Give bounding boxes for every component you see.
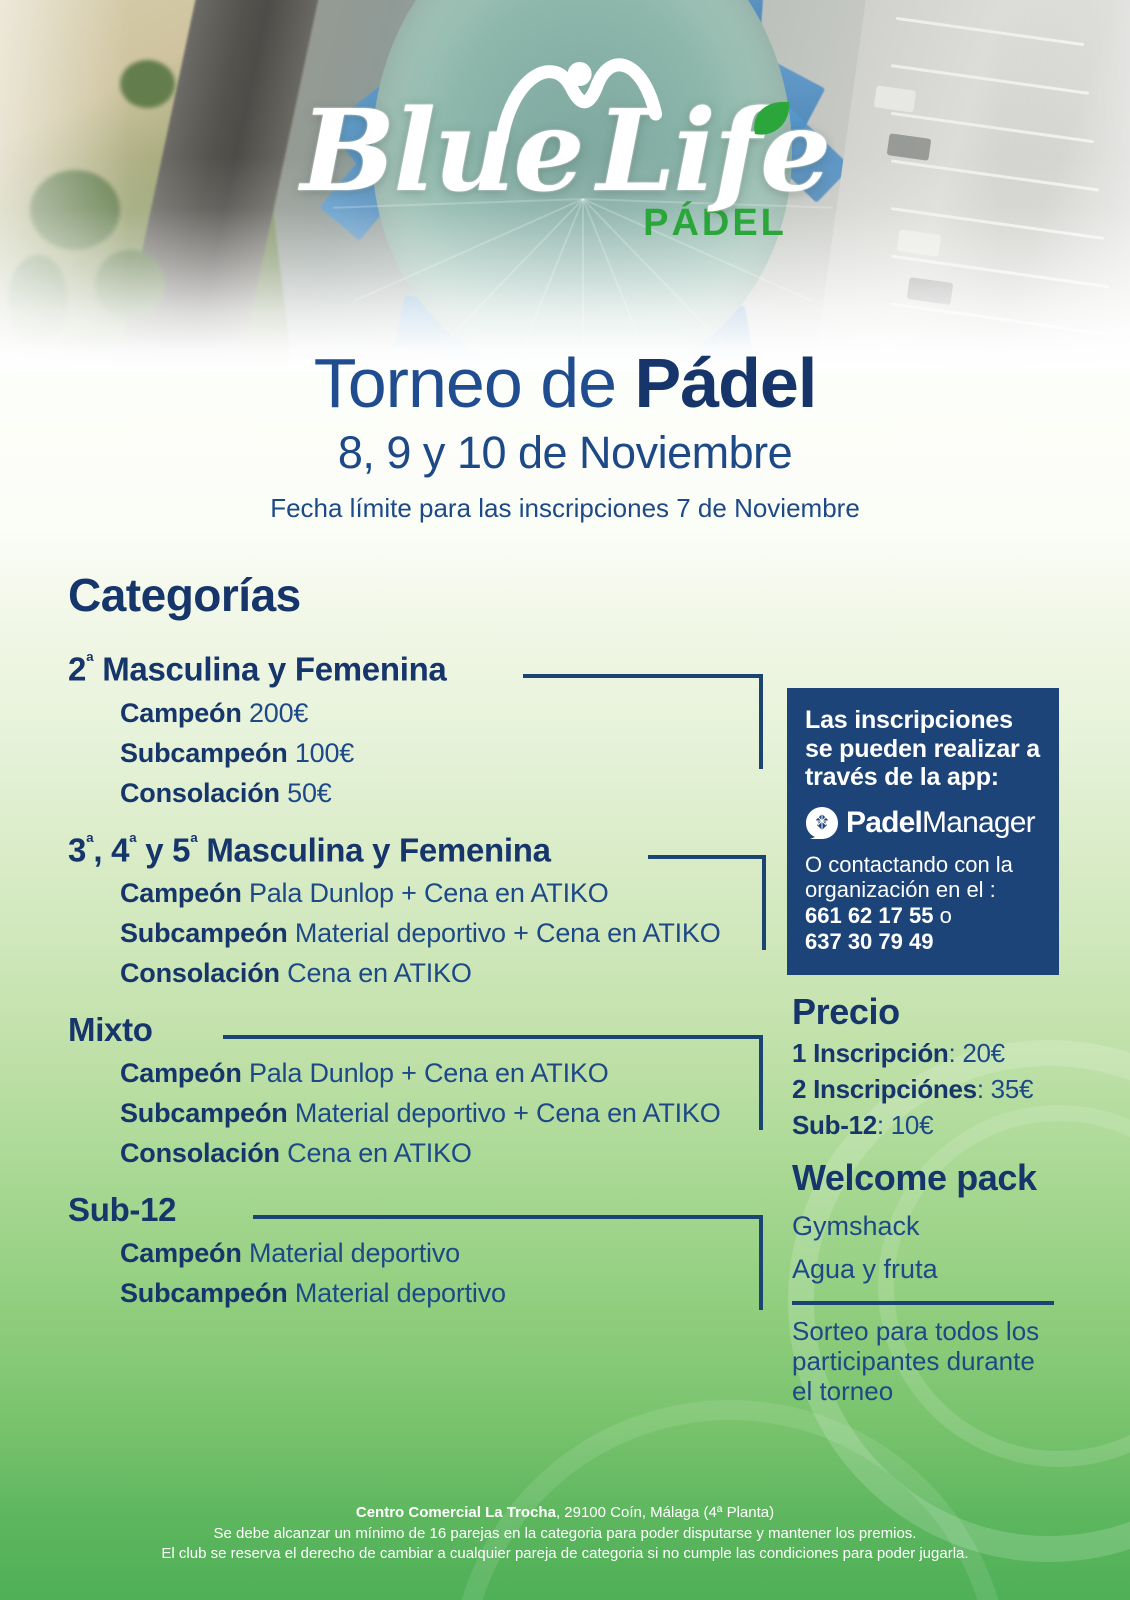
- prize-row: Consolación Cena en ATIKO: [120, 1138, 768, 1169]
- prize-label: Consolación: [120, 778, 280, 808]
- price-label: 2 Inscripciónes: [792, 1074, 977, 1104]
- prize-label: Campeón: [120, 698, 242, 728]
- category-name: Mixto: [68, 1011, 153, 1049]
- phone-row-1: 661 62 17 55 o: [805, 903, 1041, 929]
- footer: Centro Comercial La Trocha, 29100 Coín, …: [0, 1503, 1130, 1564]
- title-block: Torneo de Pádel 8, 9 y 10 de Noviembre F…: [0, 348, 1130, 524]
- prize-value: Pala Dunlop + Cena en ATIKO: [249, 878, 609, 908]
- footer-condition-2: El club se reserva el derecho de cambiar…: [0, 1544, 1130, 1564]
- prize-row: Campeón Pala Dunlop + Cena en ATIKO: [120, 1058, 768, 1089]
- categories-heading: Categorías: [68, 568, 301, 622]
- prize-label: Campeón: [120, 1238, 242, 1268]
- category-name: Sub-12: [68, 1191, 176, 1229]
- prize-label: Consolación: [120, 958, 280, 988]
- footer-venue: Centro Comercial La Trocha, 29100 Coín, …: [0, 1503, 1130, 1523]
- prize-value: Cena en ATIKO: [287, 958, 472, 988]
- prize-value: Cena en ATIKO: [287, 1138, 472, 1168]
- footer-venue-address: , 29100 Coín, Málaga (4ª Planta): [556, 1504, 774, 1521]
- prize-row: Subcampeón Material deportivo + Cena en …: [120, 918, 768, 949]
- signup-box: Las inscripciones se pueden realizar a t…: [787, 688, 1059, 975]
- title-regular: Torneo de: [314, 344, 635, 422]
- categories-list: 2ª Masculina y Femenina Campeón 200€ Sub…: [68, 650, 768, 1331]
- price-value: 20€: [962, 1038, 1004, 1068]
- prize-label: Subcampeón: [120, 1278, 288, 1308]
- prize-row: Consolación 50€: [120, 778, 768, 809]
- prize-value: 200€: [249, 698, 308, 728]
- padelmanager-bold: Padel: [846, 806, 922, 839]
- prize-row: Campeón 200€: [120, 698, 768, 729]
- phone-number-2[interactable]: 637 30 79 49: [805, 929, 1041, 955]
- category-block-2a: 2ª Masculina y Femenina Campeón 200€ Sub…: [68, 650, 768, 809]
- price-label: Sub-12: [792, 1110, 877, 1140]
- prize-value: 100€: [295, 738, 354, 768]
- prize-label: Campeón: [120, 878, 242, 908]
- category-block-345a: 3ª, 4ª y 5ª Masculina y Femenina Campeón…: [68, 831, 768, 990]
- padelmanager-wordmark: PadelManager: [846, 808, 1035, 838]
- welcome-pack-heading: Welcome pack: [792, 1157, 1059, 1199]
- photo-fade-bottom: [0, 0, 1130, 372]
- prize-row: Consolación Cena en ATIKO: [120, 958, 768, 989]
- prize-label: Subcampeón: [120, 1098, 288, 1128]
- padelmanager-logo[interactable]: PadelManager: [805, 806, 1041, 840]
- phone-or: o: [933, 903, 951, 928]
- footer-condition-1: Se debe alcanzar un mínimo de 16 parejas…: [0, 1524, 1130, 1544]
- welcome-pack-item: Gymshack: [792, 1211, 1059, 1242]
- prize-row: Campeón Pala Dunlop + Cena en ATIKO: [120, 878, 768, 909]
- side-panel: Las inscripciones se pueden realizar a t…: [787, 688, 1059, 1406]
- ball-arc-decoration: [450, 1400, 1010, 1600]
- prize-value: Pala Dunlop + Cena en ATIKO: [249, 1058, 609, 1088]
- prize-label: Campeón: [120, 1058, 242, 1088]
- prize-value: Material deportivo + Cena en ATIKO: [295, 1098, 721, 1128]
- prize-label: Subcampeón: [120, 738, 288, 768]
- prize-row: Subcampeón Material deportivo + Cena en …: [120, 1098, 768, 1129]
- category-name: 3ª, 4ª y 5ª Masculina y Femenina: [68, 831, 551, 870]
- price-row: 2 Inscripciónes: 35€: [792, 1074, 1059, 1105]
- divider: [792, 1301, 1054, 1305]
- padelmanager-icon: [805, 806, 839, 840]
- prize-value: 50€: [287, 778, 331, 808]
- category-block-mixto: Mixto Campeón Pala Dunlop + Cena en ATIK…: [68, 1011, 768, 1169]
- signup-contact-text: O contactando con la organización en el …: [805, 852, 1041, 903]
- raffle-note: Sorteo para todos los participantes dura…: [792, 1317, 1059, 1406]
- category-block-sub12: Sub-12 Campeón Material deportivo Subcam…: [68, 1191, 768, 1309]
- price-label: 1 Inscripción: [792, 1038, 948, 1068]
- price-value: 10€: [891, 1110, 933, 1140]
- welcome-pack-item: Agua y fruta: [792, 1254, 1059, 1285]
- prize-label: Subcampeón: [120, 918, 288, 948]
- price-row: Sub-12: 10€: [792, 1110, 1059, 1141]
- poster-root: BlueLife PÁDEL Torneo de Pádel 8, 9 y 10…: [0, 0, 1130, 1600]
- prize-value: Material deportivo + Cena en ATIKO: [295, 918, 721, 948]
- price-heading: Precio: [792, 991, 1059, 1033]
- price-value: 35€: [991, 1074, 1033, 1104]
- signup-lead: Las inscripciones se pueden realizar a t…: [805, 706, 1041, 792]
- padelmanager-light: Manager: [922, 806, 1035, 839]
- category-name: 2ª Masculina y Femenina: [68, 650, 446, 689]
- prize-row: Subcampeón Material deportivo: [120, 1278, 768, 1309]
- prize-row: Campeón Material deportivo: [120, 1238, 768, 1269]
- aerial-photo-header: [0, 0, 1130, 372]
- prize-value: Material deportivo: [249, 1238, 460, 1268]
- page-title: Torneo de Pádel: [0, 348, 1130, 419]
- prize-value: Material deportivo: [295, 1278, 506, 1308]
- event-dates: 8, 9 y 10 de Noviembre: [0, 427, 1130, 479]
- footer-venue-name: Centro Comercial La Trocha: [356, 1504, 556, 1521]
- price-row: 1 Inscripción: 20€: [792, 1038, 1059, 1069]
- prize-label: Consolación: [120, 1138, 280, 1168]
- phone-number-1[interactable]: 661 62 17 55: [805, 903, 933, 928]
- signup-deadline: Fecha límite para las inscripciones 7 de…: [0, 493, 1130, 524]
- title-bold: Pádel: [635, 344, 817, 422]
- prize-row: Subcampeón 100€: [120, 738, 768, 769]
